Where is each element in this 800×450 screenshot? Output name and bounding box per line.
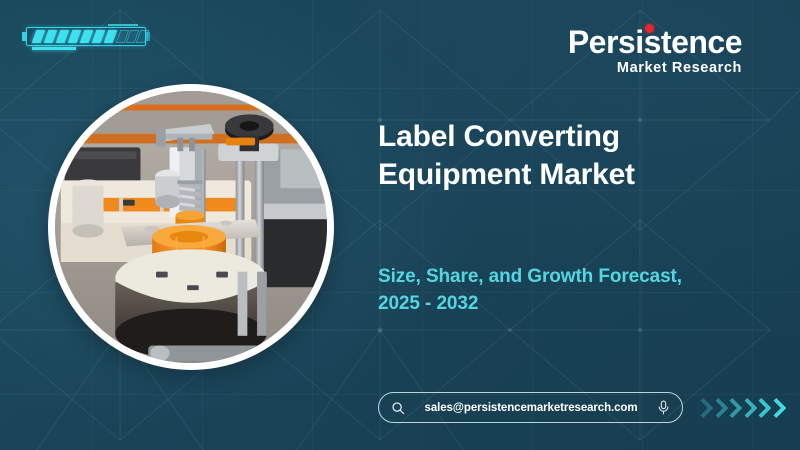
contact-search-bar[interactable]: sales@persistencemarketresearch.com: [378, 392, 683, 423]
microphone-icon[interactable]: [657, 400, 670, 415]
logo-tagline: Market Research: [568, 60, 742, 76]
subtitle-line-1: Size, Share, and Growth Forecast,: [378, 264, 778, 291]
contact-email-text: sales@persistencemarketresearch.com: [405, 402, 657, 414]
page-subtitle: Size, Share, and Growth Forecast, 2025 -…: [378, 264, 778, 318]
chevron-arrows-decoration: [700, 395, 786, 421]
chevron-right-icon: [773, 397, 787, 419]
chevron-right-icon: [758, 397, 772, 419]
logo-red-dot-icon: [645, 24, 654, 33]
loading-bar-underline-accent: [32, 47, 76, 50]
chevron-right-icon: [715, 397, 729, 419]
chevron-right-icon: [700, 397, 714, 419]
chevron-right-icon: [729, 397, 743, 419]
page-title: Label Converting Equipment Market: [378, 118, 778, 194]
chevron-right-icon: [744, 397, 758, 419]
search-icon[interactable]: [391, 401, 405, 415]
product-photo-ring: [48, 84, 334, 370]
company-logo: Persistence Market Research: [568, 26, 742, 76]
marketing-banner: Persistence Market Research: [0, 0, 800, 450]
product-photo: [55, 91, 327, 363]
loading-bar-top-accent: [108, 24, 138, 26]
subtitle-line-2: 2025 - 2032: [378, 291, 778, 318]
headline-line-2: Equipment Market: [378, 156, 778, 194]
headline-line-1: Label Converting: [378, 118, 778, 156]
logo-brand-text: Persistence: [568, 26, 742, 59]
loading-bar-graphic: [22, 24, 150, 50]
